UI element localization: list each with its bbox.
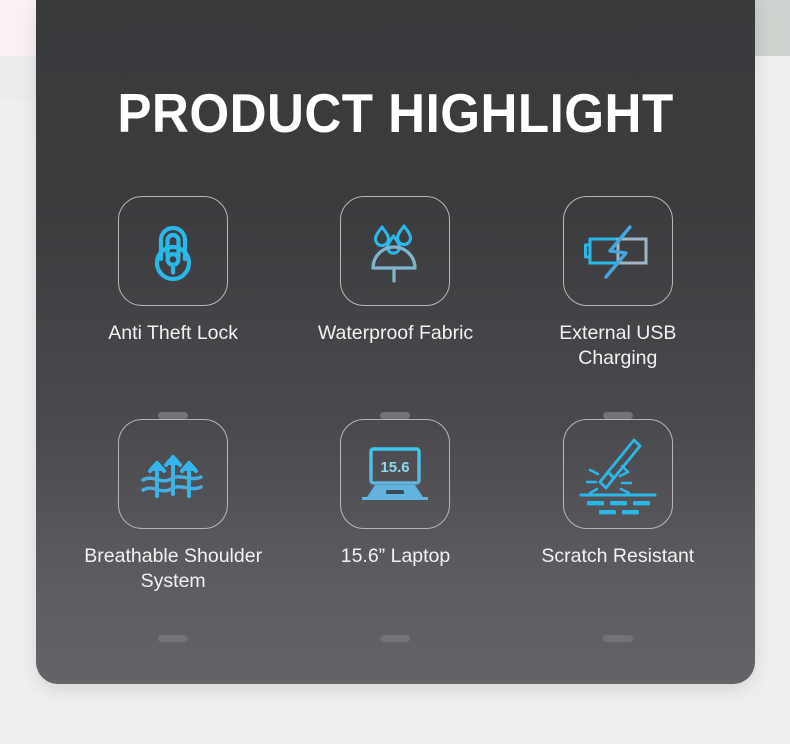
feature-item-laptop[interactable]: 15.6 15.6” Laptop [284, 419, 506, 642]
feature-divider-dash [158, 635, 188, 642]
icon-tile-breathable-shoulder-system [118, 419, 228, 529]
feature-item-waterproof-fabric[interactable]: Waterproof Fabric [284, 196, 506, 419]
waterproof-umbrella-icon [359, 215, 431, 287]
feature-label-line-2: System [141, 570, 206, 592]
icon-tile-laptop: 15.6 [340, 419, 450, 529]
feature-item-breathable-shoulder-system[interactable]: Breathable Shoulder System [62, 419, 284, 642]
icon-tile-anti-theft-lock [118, 196, 228, 306]
feature-label-line-1: Breathable Shoulder [84, 545, 262, 567]
page-title: PRODUCT HIGHLIGHT [61, 86, 730, 141]
feature-label-external-usb-charging: External USB Charging [559, 321, 676, 371]
feature-divider-dash [603, 412, 633, 419]
icon-tile-waterproof-fabric [340, 196, 450, 306]
product-highlight-card: PRODUCT HIGHLIGHT Anti Theft Lock [36, 0, 755, 684]
feature-label-line-1: External USB [559, 322, 676, 344]
feature-divider-dash [603, 635, 633, 642]
icon-tile-external-usb-charging [563, 196, 673, 306]
feature-divider-dash [380, 412, 410, 419]
feature-grid: Anti Theft Lock Waterproof Fabric [62, 196, 729, 642]
laptop-icon: 15.6 [357, 441, 433, 507]
feature-divider-dash [158, 412, 188, 419]
icon-tile-scratch-resistant [563, 419, 673, 529]
feature-label-line-2: Charging [578, 347, 657, 369]
breathable-airflow-icon [135, 438, 211, 510]
knife-scratch-icon [576, 432, 660, 516]
feature-label-anti-theft-lock: Anti Theft Lock [108, 321, 238, 346]
feature-item-anti-theft-lock[interactable]: Anti Theft Lock [62, 196, 284, 419]
feature-label-laptop: 15.6” Laptop [341, 544, 451, 569]
laptop-screen-text: 15.6 [381, 459, 410, 476]
feature-label-breathable-shoulder-system: Breathable Shoulder System [84, 544, 262, 594]
feature-divider-dash [380, 635, 410, 642]
battery-charging-icon [580, 215, 656, 287]
feature-label-waterproof-fabric: Waterproof Fabric [318, 321, 473, 346]
feature-item-scratch-resistant[interactable]: Scratch Resistant [507, 419, 729, 642]
feature-label-scratch-resistant: Scratch Resistant [541, 544, 694, 569]
feature-item-external-usb-charging[interactable]: External USB Charging [507, 196, 729, 419]
padlock-icon [137, 215, 209, 287]
